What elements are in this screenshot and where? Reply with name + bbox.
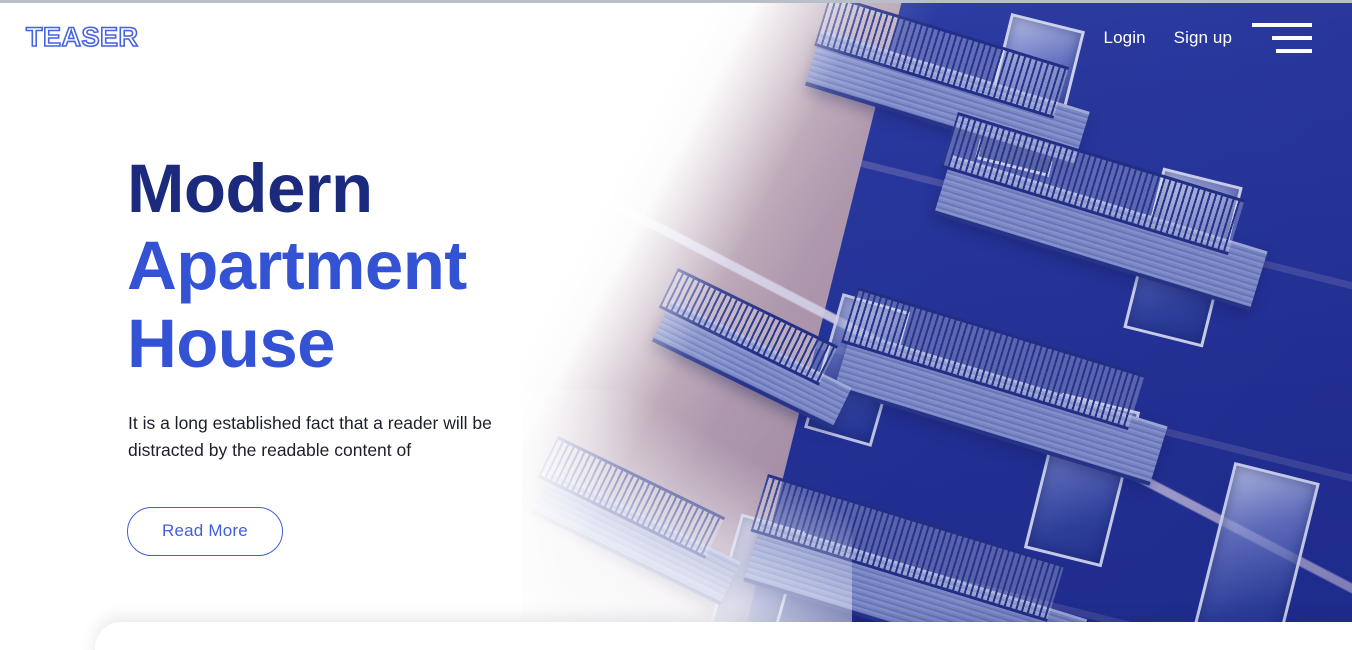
hamburger-bar-top (1252, 23, 1312, 27)
next-section-sheet (95, 622, 1352, 650)
nav-link-signup[interactable]: Sign up (1174, 28, 1232, 48)
read-more-button[interactable]: Read More (127, 507, 283, 556)
hamburger-bar-middle (1272, 36, 1312, 40)
landing-page: TEASER Login Sign up Modern Apartment Ho… (0, 0, 1352, 650)
nav-link-login[interactable]: Login (1104, 28, 1146, 48)
headline-line-1: Modern (127, 150, 647, 227)
viewport-top-edge (0, 0, 1352, 3)
nav-links: Login Sign up (1104, 28, 1232, 48)
headline-line-2: Apartment (127, 227, 647, 304)
page-title: Modern Apartment House (127, 150, 647, 382)
hamburger-menu-icon[interactable] (1252, 23, 1312, 59)
headline-line-3: House (127, 305, 647, 382)
hamburger-bar-bottom (1276, 49, 1312, 53)
hero-paragraph: It is a long established fact that a rea… (128, 410, 528, 464)
navbar: TEASER Login Sign up (0, 0, 1352, 82)
hero-content: Modern Apartment House It is a long esta… (127, 150, 647, 556)
brand-logo[interactable]: TEASER (26, 24, 139, 51)
